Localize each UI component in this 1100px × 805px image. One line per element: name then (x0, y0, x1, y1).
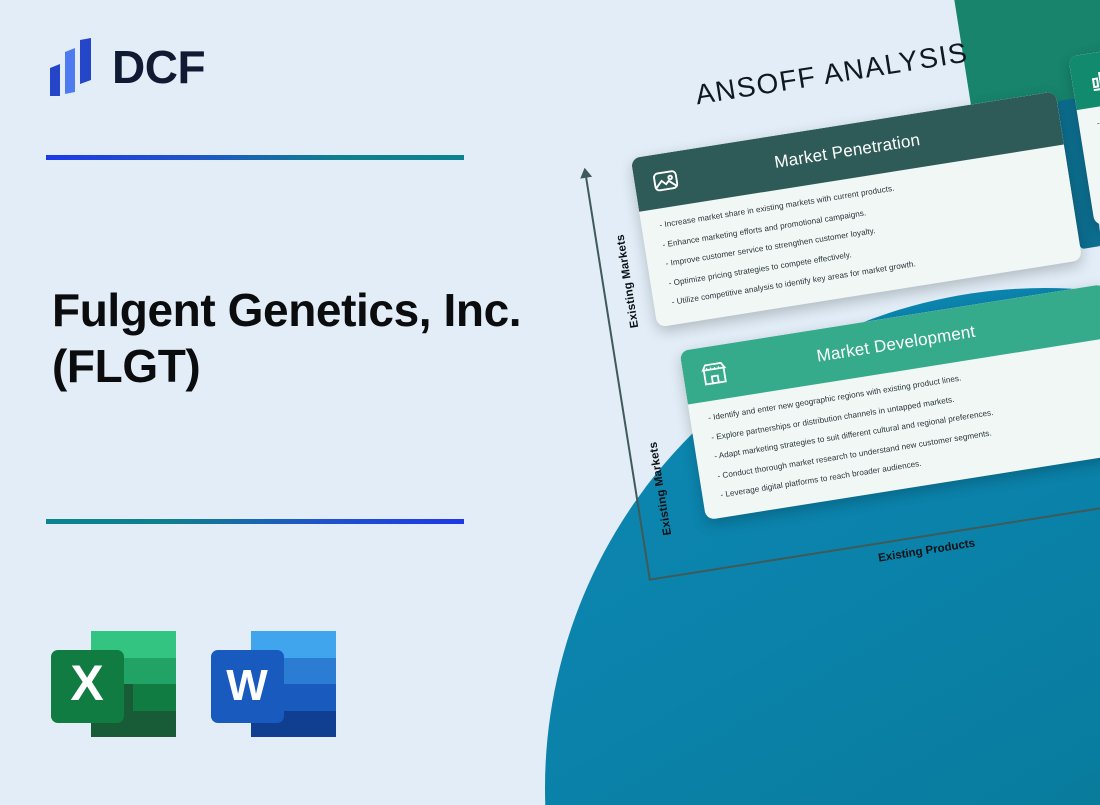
excel-file-icon[interactable]: X (48, 628, 179, 740)
ansoff-matrix: ANSOFF ANALYSIS Existing Markets Existin… (560, 12, 1100, 623)
left-panel: DCF Fulgent Genetics, Inc. (FLGT) X (0, 0, 560, 805)
y-axis-label-bottom: Existing Markets (647, 441, 674, 536)
divider-bottom (46, 519, 464, 524)
y-axis-label-top: Existing Markets (615, 233, 642, 328)
ansoff-title: ANSOFF ANALYSIS (693, 37, 970, 112)
page-title: Fulgent Genetics, Inc. (FLGT) (52, 282, 522, 394)
image-photo-icon (648, 163, 682, 197)
card-market-penetration[interactable]: Market Penetration - Increase market sha… (631, 91, 1082, 327)
svg-text:W: W (226, 661, 268, 710)
card-market-development[interactable]: Market Development - Identify and enter … (679, 284, 1100, 520)
brand-logo[interactable]: DCF (46, 36, 266, 98)
divider-top (46, 155, 464, 160)
three-slanted-bars-icon (46, 38, 102, 96)
download-icons: X W (48, 628, 339, 740)
word-file-icon[interactable]: W (208, 628, 339, 740)
brand-logo-text: DCF (112, 40, 205, 94)
storefront-icon (697, 356, 731, 390)
svg-text:X: X (70, 655, 103, 711)
